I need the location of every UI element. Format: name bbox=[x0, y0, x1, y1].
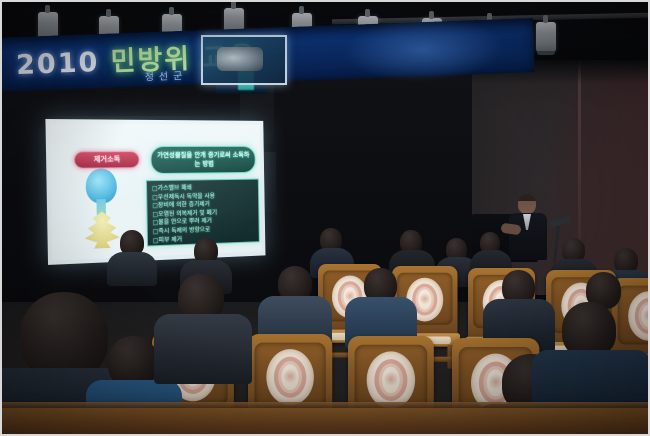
slide-heading-text: 가연성물질을 안개 증기로써 소독하는 방법 bbox=[155, 151, 251, 169]
screen-bezel: 제거소독 가연성물질을 안개 증기로써 소독하는 방법 가스밸브 폐쇄 우선제독… bbox=[50, 123, 262, 260]
lecturer-in-dark-suit bbox=[507, 194, 549, 260]
presentation-slide: 제거소독 가연성물질을 안개 증기로써 소독하는 방법 가스밸브 폐쇄 우선제독… bbox=[50, 123, 262, 260]
monitor-reflection bbox=[217, 47, 263, 71]
slide-bullet-list: 가스밸브 폐쇄 우선제독시 독약을 사용 장비에 의한 증기제거 오염된 의복제… bbox=[152, 184, 254, 246]
slide-label-text: 제거소독 bbox=[75, 154, 139, 165]
slide-bullet-box: 가스밸브 폐쇄 우선제독시 독약을 사용 장비에 의한 증기제거 오염된 의복제… bbox=[146, 179, 260, 247]
slide-heading-box: 가연성물질을 안개 증기로써 소독하는 방법 bbox=[150, 146, 256, 174]
auditorium-scene: 2010 민방위 교육 정선군 제거소독 bbox=[2, 2, 648, 434]
banner-year: 2010 bbox=[16, 47, 100, 81]
illuminated-monitor-overlay bbox=[201, 35, 287, 85]
slide-label-pill: 제거소독 bbox=[74, 151, 140, 169]
foreground-chair-rail bbox=[2, 408, 648, 434]
photo-frame: 2010 민방위 교육 정선군 제거소독 bbox=[0, 0, 650, 436]
stage-spotlight-icon bbox=[536, 22, 556, 52]
projection-screen: 제거소독 가연성물질을 안개 증기로써 소독하는 방법 가스밸브 폐쇄 우선제독… bbox=[45, 119, 265, 265]
banner-subtitle: 정선군 bbox=[144, 67, 187, 84]
disinfectant-spray-mascot-icon bbox=[78, 168, 127, 249]
